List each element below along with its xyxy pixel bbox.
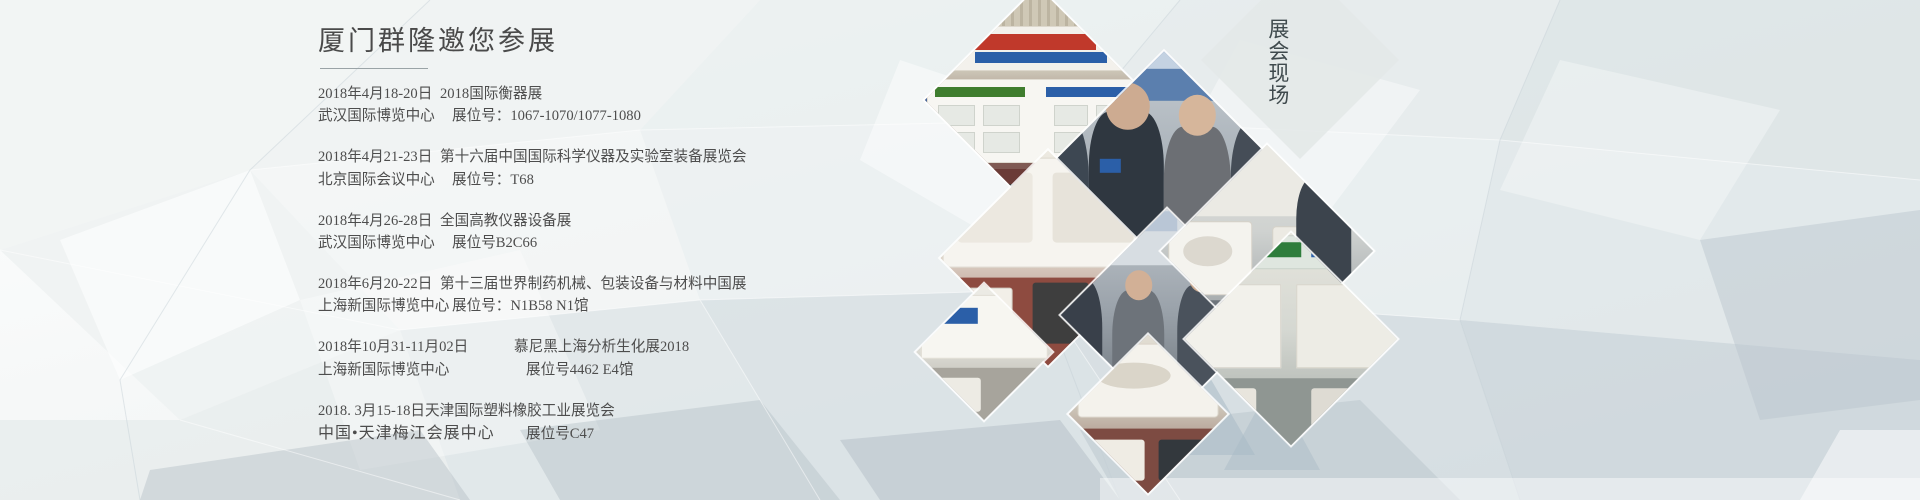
entry-line-1: 2018年10月31-11月02日 慕尼黑上海分析生化展2018 (318, 336, 958, 358)
entry-line-2: 北京国际会议中心 展位号：T68 (318, 169, 958, 191)
page-title: 厦门群隆邀您参展 (318, 24, 958, 59)
entry-line-1: 2018. 3月15-18日天津国际塑料橡胶工业展览会 (318, 400, 958, 422)
entry-line-1: 2018年4月18-20日 2018国际衡器展 (318, 83, 958, 105)
entry-date: 2018年4月18-20日 (318, 83, 440, 105)
exhibition-entry: 2018年4月21-23日 第十六届中国国际科学仪器及实验室装备展览会 北京国际… (318, 146, 958, 190)
entry-booth: 展位号4462 E4馆 (514, 359, 633, 381)
entry-line-1: 2018年6月20-22日 第十三届世界制药机械、包装设备与材料中国展 (318, 273, 958, 295)
vertical-label-text: 展会现场 (1262, 18, 1292, 106)
entry-name: 第十六届中国国际科学仪器及实验室装备展览会 (440, 146, 746, 168)
entry-date: 2018年4月21-23日 (318, 146, 440, 168)
entry-line-2: 武汉国际博览中心 展位号：1067-1070/1077-1080 (318, 105, 958, 127)
entry-line-2: 中国•天津梅江会展中心 展位号C47 (318, 422, 958, 446)
entry-venue: 上海新国际博览中心 (318, 359, 514, 381)
entry-date: 2018年10月31-11月02日 (318, 336, 514, 358)
entry-date: 2018. 3月15-18日天津国际塑料橡胶工业展览会 (318, 403, 615, 419)
entry-name: 2018国际衡器展 (440, 83, 542, 105)
exhibition-list: 厦门群隆邀您参展 2018年4月18-20日 2018国际衡器展 武汉国际博览中… (318, 24, 958, 465)
entry-line-1: 2018年4月21-23日 第十六届中国国际科学仪器及实验室装备展览会 (318, 146, 958, 168)
entry-name: 慕尼黑上海分析生化展2018 (514, 336, 689, 358)
entry-line-2: 上海新国际博览中心 展位号4462 E4馆 (318, 359, 958, 381)
entry-venue: 武汉国际博览中心 (318, 105, 440, 127)
exhibition-entry: 2018年4月26-28日 全国高教仪器设备展 武汉国际博览中心 展位号B2C6… (318, 210, 958, 254)
entry-venue: 北京国际会议中心 (318, 169, 440, 191)
entry-line-2: 上海新国际博览中心 展位号：N1B58 N1馆 (318, 295, 958, 317)
entry-venue: 武汉国际博览中心 (318, 232, 440, 254)
entry-line-1: 2018年4月26-28日 全国高教仪器设备展 (318, 210, 958, 232)
exhibition-entry: 2018年10月31-11月02日 慕尼黑上海分析生化展2018 上海新国际博览… (318, 336, 958, 380)
entry-name: 全国高教仪器设备展 (440, 210, 571, 232)
title-divider (320, 68, 428, 69)
entry-venue: 中国•天津梅江会展中心 (318, 422, 514, 446)
entry-date: 2018年4月26-28日 (318, 210, 440, 232)
entry-venue: 上海新国际博览中心 (318, 295, 440, 317)
entry-booth: 展位号C47 (514, 423, 594, 445)
entry-booth: 展位号：T68 (440, 169, 534, 191)
entry-date: 2018年6月20-22日 (318, 273, 440, 295)
exhibition-entry: 2018年4月18-20日 2018国际衡器展 武汉国际博览中心 展位号：106… (318, 83, 958, 127)
exhibition-entry: 2018. 3月15-18日天津国际塑料橡胶工业展览会 中国•天津梅江会展中心 … (318, 400, 958, 446)
exhibition-entry: 2018年6月20-22日 第十三届世界制药机械、包装设备与材料中国展 上海新国… (318, 273, 958, 317)
section-label-exhibition-scene: 展会现场 (1262, 18, 1296, 106)
entry-booth: 展位号：1067-1070/1077-1080 (440, 105, 641, 127)
entry-booth: 展位号B2C66 (440, 232, 537, 254)
photo-collage (1020, 0, 1440, 500)
entry-line-2: 武汉国际博览中心 展位号B2C66 (318, 232, 958, 254)
exhibition-banner: 厦门群隆邀您参展 2018年4月18-20日 2018国际衡器展 武汉国际博览中… (0, 0, 1920, 500)
entry-booth: 展位号：N1B58 N1馆 (440, 295, 589, 317)
entry-name: 第十三届世界制药机械、包装设备与材料中国展 (440, 273, 746, 295)
